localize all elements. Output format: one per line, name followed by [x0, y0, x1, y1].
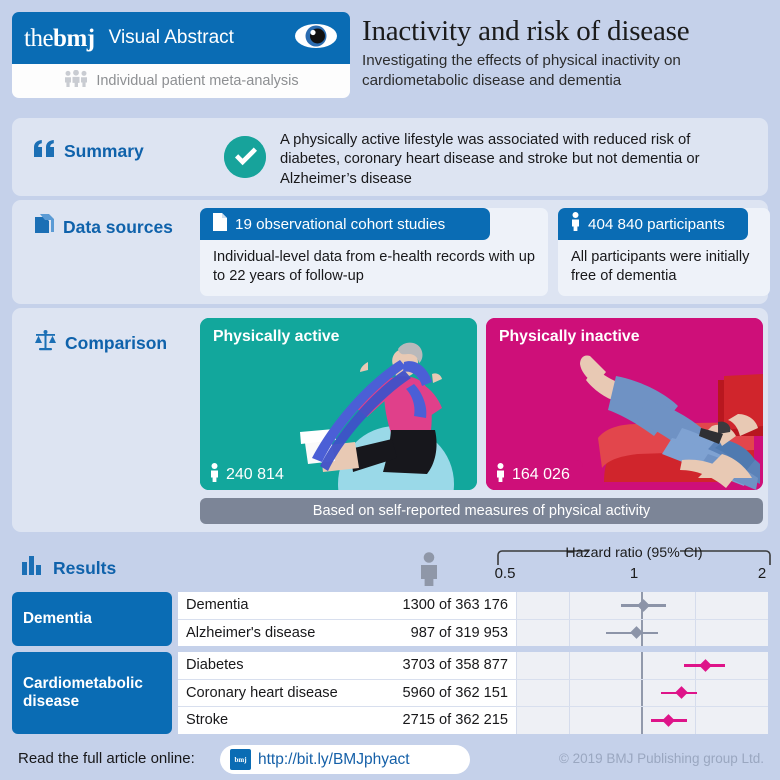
hazard-ratio-marker [675, 686, 688, 699]
results-heading: Results [22, 556, 116, 580]
logo-the: the [24, 25, 53, 52]
row-disease-name: Stroke [186, 712, 228, 728]
table-row[interactable]: Coronary heart disease 5960 of 362 151 [178, 680, 768, 708]
forest-cell [516, 652, 768, 679]
table-row[interactable]: Dementia 1300 of 363 176 [178, 592, 768, 620]
person-icon [571, 212, 580, 236]
comparison-panel: Comparison [12, 308, 768, 532]
data-source-body: All participants were initially free of … [571, 248, 760, 286]
gridline [569, 652, 570, 679]
article-url[interactable]: http://bit.ly/BMJphyact [258, 751, 410, 769]
hazard-ratio-marker [699, 659, 712, 672]
data-source-card: 19 observational cohort studies Individu… [200, 208, 548, 296]
gridline [516, 592, 517, 619]
comparison-label-active: Physically active [213, 328, 339, 346]
bar-chart-icon [22, 556, 45, 580]
check-circle-icon [224, 136, 266, 178]
comparison-heading: Comparison [34, 330, 167, 356]
results-title: Results [53, 558, 116, 579]
summary-panel: Summary A physically active lifestyle wa… [12, 118, 768, 196]
hazard-ratio-axis-header: Hazard ratio (95% CI) 0.5 1 2 [496, 545, 772, 589]
comparison-count-inactive-value: 164 026 [512, 466, 570, 484]
row-disease-name: Diabetes [186, 657, 244, 673]
forest-cell [516, 707, 768, 734]
data-source-badge: 404 840 participants [558, 208, 748, 240]
results-group-label-text: Dementia [23, 610, 92, 628]
results-group-label: Dementia [12, 592, 172, 646]
row-disease-name: Dementia [186, 597, 248, 613]
title-block: Inactivity and risk of disease Investiga… [362, 16, 770, 90]
data-source-badge-text: 19 observational cohort studies [235, 216, 445, 233]
results-group: Cardiometabolic disease Diabetes 3703 of… [12, 652, 768, 734]
person-icon [210, 463, 219, 487]
table-row[interactable]: Alzheimer's disease 987 of 319 953 [178, 620, 768, 647]
reference-line [641, 652, 644, 679]
page-subtitle: Investigating the effects of physical in… [362, 51, 770, 89]
data-sources-heading: Data sources [34, 214, 173, 241]
article-url-box[interactable]: bmj http://bit.ly/BMJphyact [220, 745, 470, 774]
hazard-ratio-marker [637, 599, 650, 612]
documents-icon [34, 214, 55, 241]
footer: Read the full article online: bmj http:/… [0, 740, 780, 780]
data-sources-title: Data sources [63, 217, 173, 238]
summary-title: Summary [64, 141, 144, 162]
gridline [695, 592, 696, 619]
row-event-count: 3703 of 358 877 [358, 657, 508, 673]
forest-cell [516, 620, 768, 647]
document-icon [213, 213, 227, 236]
data-sources-panel: Data sources 19 observational cohort stu… [12, 200, 768, 304]
row-event-count: 987 of 319 953 [358, 625, 508, 641]
comparison-count-active: 240 814 [200, 460, 297, 490]
comparison-photo-active: Physically active 240 814 [200, 318, 477, 490]
gridline [695, 707, 696, 734]
gridline [569, 680, 570, 707]
bmj-logo: thebmj [24, 26, 95, 51]
hazard-ratio-marker [663, 714, 676, 727]
results-group-rows: Diabetes 3703 of 358 877 Coronary heart … [178, 652, 768, 734]
comparison-title: Comparison [65, 333, 167, 354]
gridline [569, 620, 570, 647]
comparison-count-inactive: 164 026 [486, 460, 583, 490]
gridline [516, 620, 517, 647]
row-event-count: 1300 of 363 176 [358, 597, 508, 613]
meta-analysis-label: Individual patient meta-analysis [96, 73, 298, 89]
three-people-icon [63, 70, 89, 92]
gridline [516, 707, 517, 734]
comparison-footnote-text: Based on self-reported measures of physi… [313, 503, 650, 519]
bmj-brand-bar: thebmj Visual Abstract [12, 12, 350, 64]
quote-icon [34, 140, 56, 162]
axis-tick-1: 1 [630, 565, 638, 582]
results-group-rows: Dementia 1300 of 363 176 Alzheimer's dis… [178, 592, 768, 646]
table-row[interactable]: Diabetes 3703 of 358 877 [178, 652, 768, 680]
read-article-label: Read the full article online: [18, 750, 195, 767]
row-event-count: 5960 of 362 151 [358, 685, 508, 701]
results-table: Dementia Dementia 1300 of 363 176 Alzhei… [12, 592, 768, 740]
data-source-badge-text: 404 840 participants [588, 216, 725, 233]
comparison-label-inactive: Physically inactive [499, 328, 640, 346]
comparison-footnote: Based on self-reported measures of physi… [200, 498, 763, 524]
visual-abstract-label: Visual Abstract [109, 27, 234, 49]
copyright-text: © 2019 BMJ Publishing group Ltd. [559, 751, 764, 766]
forest-cell [516, 592, 768, 619]
scales-icon [34, 330, 57, 356]
forest-cell [516, 680, 768, 707]
axis-tick-labels: 0.5 1 2 [496, 565, 772, 587]
comparison-count-active-value: 240 814 [226, 466, 284, 484]
visual-abstract-page: thebmj Visual Abstract [0, 0, 780, 780]
gridline [569, 592, 570, 619]
hazard-ratio-label: Hazard ratio (95% CI) [496, 545, 772, 561]
eye-icon [294, 23, 338, 54]
gridline [695, 620, 696, 647]
data-source-body: Individual-level data from e-health reco… [213, 248, 538, 286]
axis-tick-2: 2 [758, 565, 766, 582]
bmj-icon-text: bmj [234, 756, 246, 764]
data-source-badge: 19 observational cohort studies [200, 208, 490, 240]
meta-analysis-bar: Individual patient meta-analysis [12, 64, 350, 98]
summary-text: A physically active lifestyle was associ… [280, 131, 750, 189]
reference-line [641, 680, 644, 707]
reference-line [641, 707, 644, 734]
summary-heading: Summary [34, 140, 144, 162]
results-group: Dementia Dementia 1300 of 363 176 Alzhei… [12, 592, 768, 646]
bmj-icon: bmj [230, 749, 251, 770]
comparison-photo-inactive: Physically inactive 164 026 [486, 318, 763, 490]
logo-bmj: bmj [53, 25, 95, 52]
row-disease-name: Alzheimer's disease [186, 625, 315, 641]
bmj-header-card: thebmj Visual Abstract [12, 12, 350, 98]
data-source-card: 404 840 participants All participants we… [558, 208, 770, 296]
results-person-icon [418, 552, 440, 591]
page-title: Inactivity and risk of disease [362, 16, 770, 46]
row-event-count: 2715 of 362 215 [358, 712, 508, 728]
gridline [569, 707, 570, 734]
gridline [516, 680, 517, 707]
results-group-label: Cardiometabolic disease [12, 652, 172, 734]
person-icon [496, 463, 505, 487]
gridline [516, 652, 517, 679]
table-row[interactable]: Stroke 2715 of 362 215 [178, 707, 768, 734]
results-group-label-text: Cardiometabolic disease [23, 675, 161, 710]
row-disease-name: Coronary heart disease [186, 685, 338, 701]
axis-tick-0: 0.5 [495, 565, 516, 582]
